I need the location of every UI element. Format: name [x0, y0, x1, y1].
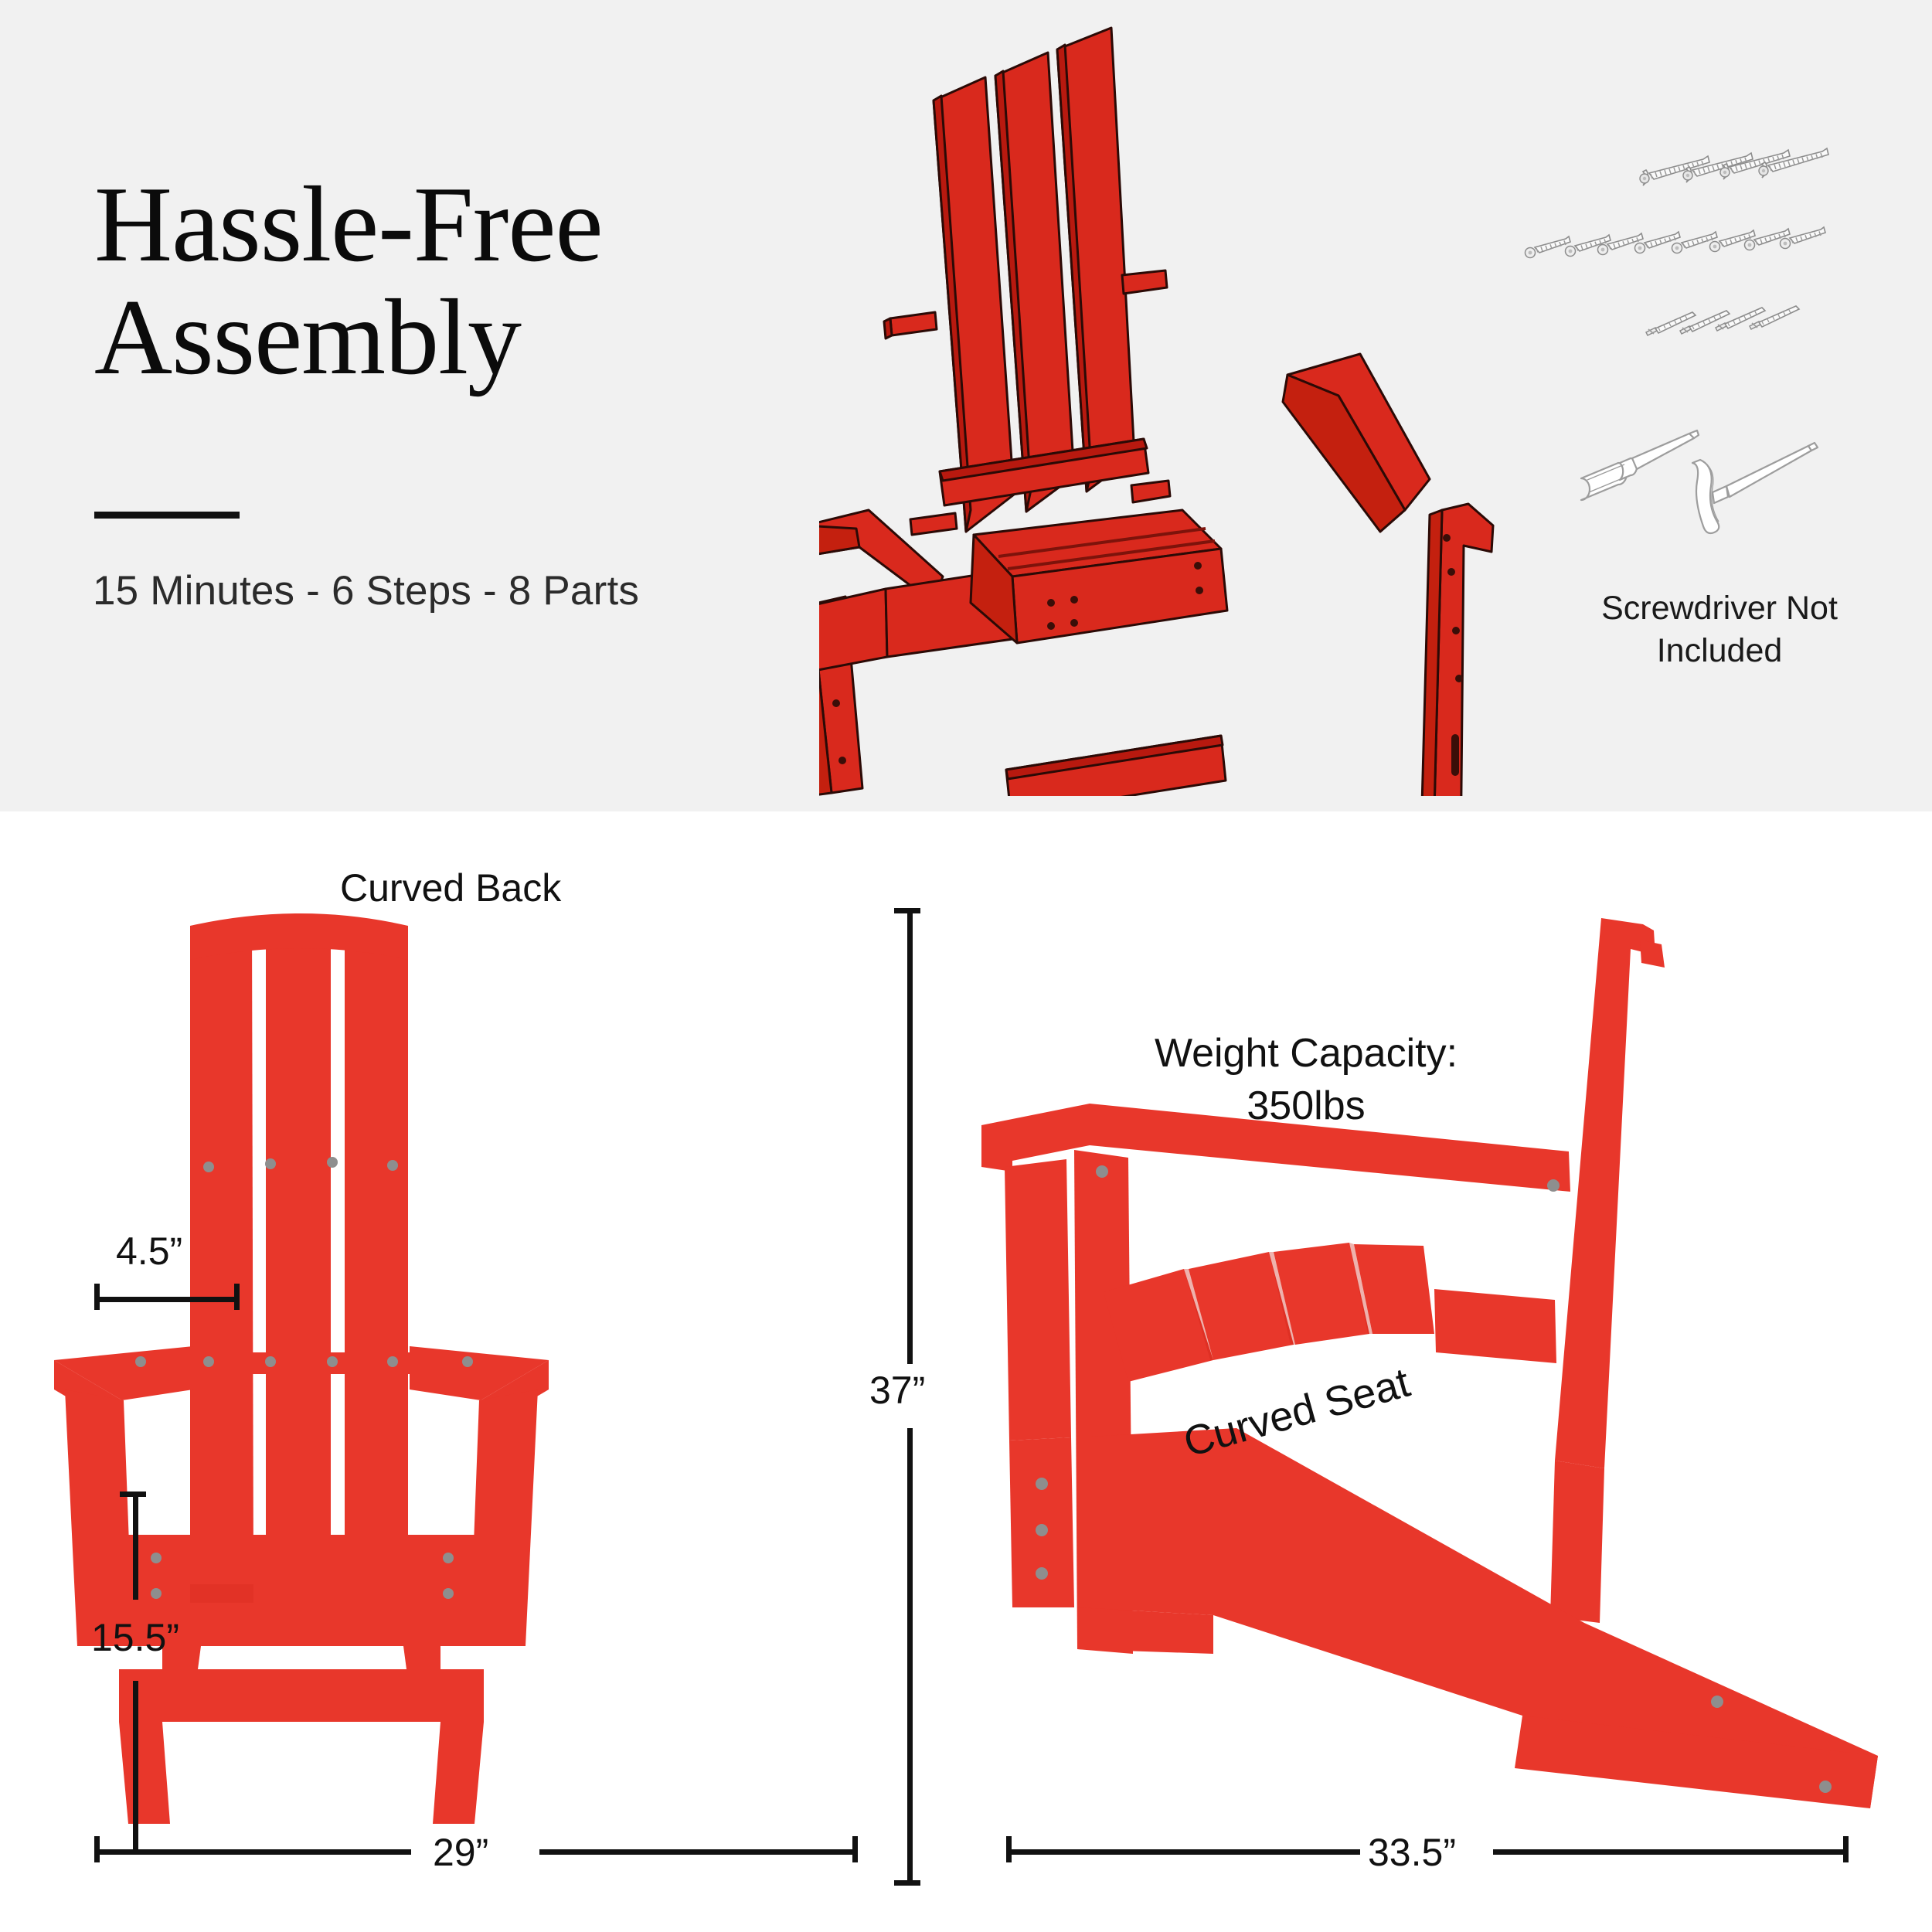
screwdriver-icon: [1581, 430, 1699, 500]
assembly-subtitle: 15 Minutes - 6 Steps - 8 Parts: [93, 567, 639, 614]
dimension-line-width-left: [94, 1849, 411, 1855]
dimension-seat-height: 15.5”: [91, 1615, 179, 1660]
tools-group: [1553, 429, 1886, 583]
dimension-cap-left-armrest: [94, 1284, 100, 1310]
dimension-line-depth-right: [1493, 1849, 1849, 1855]
dimension-cap-bottom-height: [894, 1880, 920, 1886]
dimension-line-seat-height-lower: [133, 1681, 138, 1855]
dimension-overall-depth: 33.5”: [1368, 1830, 1456, 1875]
title-line-1: Hassle-Free: [94, 165, 603, 284]
chair-front-view: [46, 889, 587, 1839]
title-divider: [94, 512, 240, 519]
dimension-line-depth-left: [1006, 1849, 1360, 1855]
dimension-cap-left-depth: [1006, 1836, 1012, 1862]
long-screws: [1640, 148, 1828, 185]
dimension-cap-right-armrest: [234, 1284, 240, 1310]
title-line-2: Assembly: [94, 281, 867, 394]
short-screws: [1526, 227, 1826, 258]
dimension-overall-width: 29”: [433, 1830, 488, 1875]
dimension-cap-right-depth: [1843, 1836, 1849, 1862]
dimension-line-height-upper: [907, 908, 913, 1364]
dimension-cap-right-width: [852, 1836, 858, 1862]
dimension-line-height-lower: [907, 1428, 913, 1886]
page-title: Hassle-Free Assembly: [94, 168, 867, 393]
tools-caption-line-2: Included: [1538, 630, 1901, 672]
tools-caption: Screwdriver Not Included: [1538, 587, 1901, 672]
dimension-line-width-right: [539, 1849, 858, 1855]
exploded-chair-parts: [819, 15, 1499, 796]
dimension-armrest-width: 4.5”: [116, 1229, 182, 1274]
assembly-panel: Hassle-Free Assembly 15 Minutes - 6 Step…: [0, 0, 1932, 811]
dimension-cap-top-seat-height: [120, 1492, 146, 1497]
dimension-cap-top-height: [894, 908, 920, 913]
dimension-line-seat-height-upper: [133, 1492, 138, 1600]
tools-caption-line-1: Screwdriver Not: [1538, 587, 1901, 630]
dimension-cap-left-width: [94, 1836, 100, 1862]
dimension-overall-height: 37”: [869, 1368, 925, 1413]
flat-head-screws: [1646, 306, 1799, 335]
chair-side-view: [981, 896, 1893, 1847]
allen-wrench-icon: [1692, 443, 1818, 533]
dimension-line-armrest-width: [94, 1297, 240, 1302]
screws-group: [1515, 116, 1932, 410]
